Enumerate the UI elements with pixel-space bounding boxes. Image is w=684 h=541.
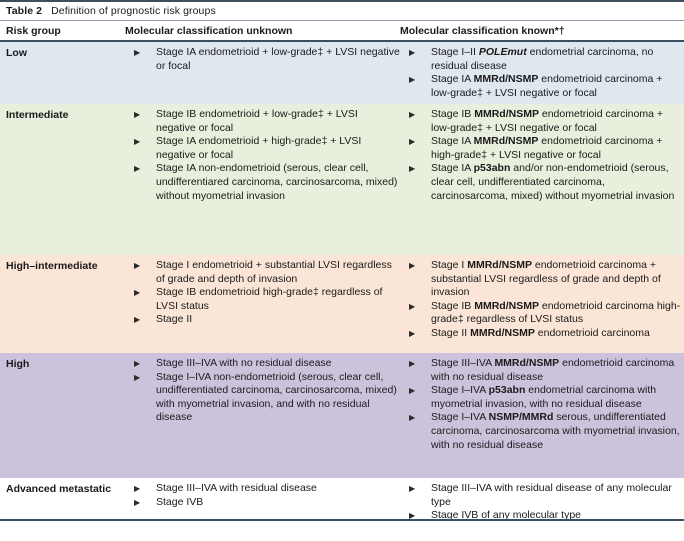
known-bullet-text: Stage I–IVA p53abn endometrial carcinoma… (431, 384, 656, 410)
bullet-triangle-icon: ▶ (134, 259, 140, 273)
known-bullet-text: Stage III–IVA with residual disease of a… (431, 482, 672, 508)
unknown-bullet-text: Stage IB endometrioid high-grade‡ regard… (156, 286, 382, 312)
known-bullet-text: Stage I–II POLEmut endometrial carcinoma… (431, 46, 653, 72)
bullet-triangle-icon: ▶ (134, 313, 140, 327)
known-bullet-item: ▶Stage I–IVA p53abn endometrial carcinom… (400, 384, 684, 411)
unknown-bullet-item: ▶Stage IA endometrioid + high-grade‡ + L… (125, 135, 400, 162)
known-list: ▶Stage III–IVA with residual disease of … (400, 482, 684, 523)
column-header-risk-group: Risk group (0, 25, 125, 37)
known-bullet-item: ▶Stage I–II POLEmut endometrial carcinom… (400, 46, 684, 73)
bullet-triangle-icon: ▶ (409, 135, 415, 149)
table-caption: Table 2 Definition of prognostic risk gr… (0, 0, 684, 21)
known-bullet-item: ▶Stage I–IVA NSMP/MMRd serous, undiffere… (400, 411, 684, 452)
known-bullet-item: ▶Stage I MMRd/NSMP endometrioid carcinom… (400, 259, 684, 300)
unknown-bullet-text: Stage IA endometrioid + high-grade‡ + LV… (156, 135, 361, 161)
table-row-high-intermediate: High–intermediate▶Stage I endometrioid +… (0, 255, 684, 353)
bullet-triangle-icon: ▶ (409, 259, 415, 273)
unknown-bullet-text: Stage I–IVA non-endometrioid (serous, cl… (156, 371, 397, 424)
bullet-triangle-icon: ▶ (409, 384, 415, 398)
risk-group-label-high-intermediate: High–intermediate (0, 255, 125, 278)
known-bullet-item: ▶Stage IA MMRd/NSMP endometrioid carcino… (400, 135, 684, 162)
unknown-bullet-text: Stage IA endometrioid + low-grade‡ + LVS… (156, 46, 400, 72)
unknown-bullet-item: ▶Stage IVB (125, 496, 400, 510)
unknown-bullet-item: ▶Stage IB endometrioid high-grade‡ regar… (125, 286, 400, 313)
unknown-bullet-text: Stage II (156, 313, 192, 325)
unknown-list: ▶Stage IA endometrioid + low-grade‡ + LV… (125, 46, 400, 73)
bullet-triangle-icon: ▶ (409, 162, 415, 176)
table-body: Low▶Stage IA endometrioid + low-grade‡ +… (0, 42, 684, 541)
molecular-known-cell-low: ▶Stage I–II POLEmut endometrial carcinom… (400, 42, 684, 104)
known-bullet-text: Stage III–IVA MMRd/NSMP endometrioid car… (431, 357, 674, 383)
unknown-bullet-item: ▶Stage IB endometrioid + low-grade‡ + LV… (125, 108, 400, 135)
bullet-triangle-icon: ▶ (134, 162, 140, 176)
molecular-known-cell-high: ▶Stage III–IVA MMRd/NSMP endometrioid ca… (400, 353, 684, 456)
unknown-bullet-text: Stage III–IVA with residual disease (156, 482, 317, 494)
bullet-triangle-icon: ▶ (409, 73, 415, 87)
known-bullet-text: Stage IB MMRd/NSMP endometrioid carcinom… (431, 108, 663, 134)
table-row-low: Low▶Stage IA endometrioid + low-grade‡ +… (0, 42, 684, 104)
risk-group-label-low: Low (0, 42, 125, 65)
unknown-bullet-item: ▶Stage IA endometrioid + low-grade‡ + LV… (125, 46, 400, 73)
unknown-bullet-text: Stage IA non-endometrioid (serous, clear… (156, 162, 397, 201)
known-list: ▶Stage III–IVA MMRd/NSMP endometrioid ca… (400, 357, 684, 452)
known-list: ▶Stage I MMRd/NSMP endometrioid carcinom… (400, 259, 684, 341)
molecular-unknown-cell-low: ▶Stage IA endometrioid + low-grade‡ + LV… (125, 42, 400, 77)
known-bullet-text: Stage IA p53abn and/or non-endometrioid … (431, 162, 674, 201)
molecular-unknown-cell-advanced-metastatic: ▶Stage III–IVA with residual disease▶Sta… (125, 478, 400, 513)
bullet-triangle-icon: ▶ (409, 482, 415, 496)
bullet-triangle-icon: ▶ (134, 135, 140, 149)
bullet-triangle-icon: ▶ (134, 357, 140, 371)
table-caption-number: Table 2 (6, 5, 42, 17)
bullet-triangle-icon: ▶ (409, 327, 415, 341)
unknown-bullet-text: Stage IVB (156, 496, 203, 508)
table-row-advanced-metastatic: Advanced metastatic▶Stage III–IVA with r… (0, 478, 684, 541)
unknown-list: ▶Stage III–IVA with no residual disease▶… (125, 357, 400, 425)
molecular-unknown-cell-high-intermediate: ▶Stage I endometrioid + substantial LVSI… (125, 255, 400, 331)
table-header-row: Risk group Molecular classification unkn… (0, 21, 684, 42)
table-2-container: Table 2 Definition of prognostic risk gr… (0, 0, 684, 524)
molecular-unknown-cell-intermediate: ▶Stage IB endometrioid + low-grade‡ + LV… (125, 104, 400, 207)
unknown-bullet-text: Stage IB endometrioid + low-grade‡ + LVS… (156, 108, 358, 134)
bullet-triangle-icon: ▶ (134, 286, 140, 300)
bullet-triangle-icon: ▶ (134, 46, 140, 60)
unknown-bullet-item: ▶Stage IA non-endometrioid (serous, clea… (125, 162, 400, 203)
column-header-molecular-known: Molecular classification known*† (400, 25, 684, 37)
known-bullet-text: Stage IA MMRd/NSMP endometrioid carcinom… (431, 135, 662, 161)
unknown-list: ▶Stage IB endometrioid + low-grade‡ + LV… (125, 108, 400, 203)
bullet-triangle-icon: ▶ (409, 108, 415, 122)
known-bullet-item: ▶Stage II MMRd/NSMP endometrioid carcino… (400, 327, 684, 341)
known-bullet-text: Stage I MMRd/NSMP endometrioid carcinoma… (431, 259, 661, 298)
known-bullet-text: Stage II MMRd/NSMP endometrioid carcinom… (431, 327, 650, 339)
table-bottom-rule (0, 519, 684, 521)
risk-group-label-intermediate: Intermediate (0, 104, 125, 127)
bullet-triangle-icon: ▶ (409, 300, 415, 314)
molecular-known-cell-high-intermediate: ▶Stage I MMRd/NSMP endometrioid carcinom… (400, 255, 684, 345)
known-bullet-item: ▶Stage IA p53abn and/or non-endometrioid… (400, 162, 684, 203)
known-bullet-item: ▶Stage IB MMRd/NSMP endometrioid carcino… (400, 108, 684, 135)
unknown-bullet-item: ▶Stage III–IVA with residual disease (125, 482, 400, 496)
table-row-high: High▶Stage III–IVA with no residual dise… (0, 353, 684, 478)
bullet-triangle-icon: ▶ (409, 46, 415, 60)
known-bullet-text: Stage IB MMRd/NSMP endometrioid carcinom… (431, 300, 680, 326)
molecular-known-cell-intermediate: ▶Stage IB MMRd/NSMP endometrioid carcino… (400, 104, 684, 207)
column-header-molecular-unknown: Molecular classification unknown (125, 25, 400, 37)
table-row-intermediate: Intermediate▶Stage IB endometrioid + low… (0, 104, 684, 255)
unknown-bullet-text: Stage III–IVA with no residual disease (156, 357, 332, 369)
known-list: ▶Stage I–II POLEmut endometrial carcinom… (400, 46, 684, 100)
known-bullet-item: ▶Stage IB MMRd/NSMP endometrioid carcino… (400, 300, 684, 327)
molecular-unknown-cell-high: ▶Stage III–IVA with no residual disease▶… (125, 353, 400, 429)
unknown-bullet-item: ▶Stage II (125, 313, 400, 327)
table-caption-text: Definition of prognostic risk groups (51, 5, 216, 17)
unknown-bullet-item: ▶Stage I–IVA non-endometrioid (serous, c… (125, 371, 400, 425)
unknown-bullet-text: Stage I endometrioid + substantial LVSI … (156, 259, 392, 285)
bullet-triangle-icon: ▶ (134, 108, 140, 122)
known-list: ▶Stage IB MMRd/NSMP endometrioid carcino… (400, 108, 684, 203)
risk-group-label-high: High (0, 353, 125, 376)
unknown-list: ▶Stage I endometrioid + substantial LVSI… (125, 259, 400, 327)
bullet-triangle-icon: ▶ (409, 357, 415, 371)
bullet-triangle-icon: ▶ (134, 496, 140, 510)
known-bullet-item: ▶Stage IA MMRd/NSMP endometrioid carcino… (400, 73, 684, 100)
known-bullet-item: ▶Stage III–IVA MMRd/NSMP endometrioid ca… (400, 357, 684, 384)
bullet-triangle-icon: ▶ (134, 482, 140, 496)
unknown-bullet-item: ▶Stage I endometrioid + substantial LVSI… (125, 259, 400, 286)
known-bullet-text: Stage I–IVA NSMP/MMRd serous, undifferen… (431, 411, 680, 450)
unknown-bullet-item: ▶Stage III–IVA with no residual disease (125, 357, 400, 371)
bullet-triangle-icon: ▶ (134, 371, 140, 385)
bullet-triangle-icon: ▶ (409, 411, 415, 425)
unknown-list: ▶Stage III–IVA with residual disease▶Sta… (125, 482, 400, 509)
risk-group-label-advanced-metastatic: Advanced metastatic (0, 478, 125, 501)
known-bullet-text: Stage IA MMRd/NSMP endometrioid carcinom… (431, 73, 662, 99)
known-bullet-item: ▶Stage III–IVA with residual disease of … (400, 482, 684, 509)
